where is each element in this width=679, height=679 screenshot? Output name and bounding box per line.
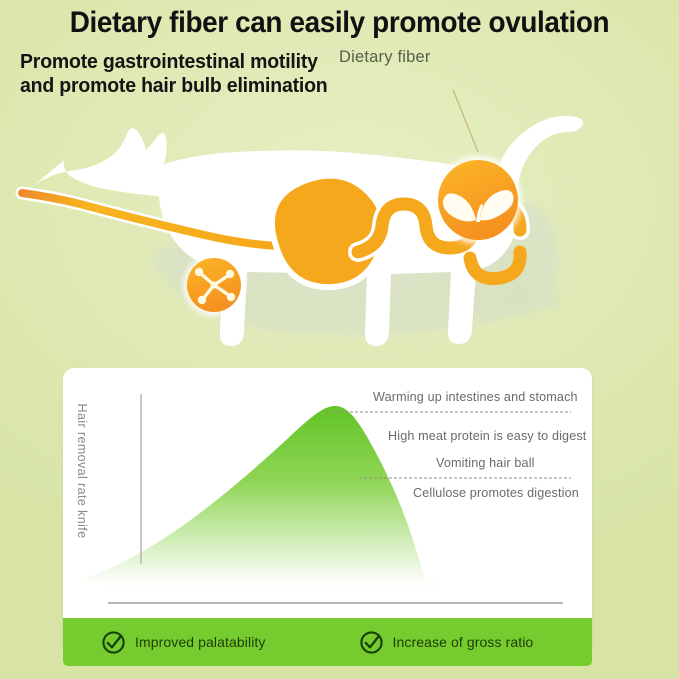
benefit-item-palatability: Improved palatability [101, 630, 266, 655]
leaf-sprout-badge [434, 156, 522, 244]
x-axis-line [63, 598, 592, 608]
annotation-vomiting-hair-ball: Vomiting hair ball [436, 456, 535, 470]
benefit-item-gross-ratio: Increase of gross ratio [359, 630, 534, 655]
benefits-footer: Improved palatability Increase of gross … [63, 618, 592, 666]
cat-illustration [0, 90, 679, 370]
check-circle-icon [359, 630, 384, 655]
y-axis-label: Hair removal rate knife [75, 396, 89, 546]
page-title: Dietary fiber can easily promote ovulati… [24, 6, 655, 40]
chart-card: Hair removal rate knife Warming up intes… [63, 368, 592, 654]
benefit-label-gross-ratio: Increase of gross ratio [393, 634, 534, 650]
infographic-page: Dietary fiber can easily promote ovulati… [0, 0, 679, 679]
benefit-label-palatability: Improved palatability [135, 634, 266, 650]
check-circle-icon [101, 630, 126, 655]
molecule-badge [183, 254, 245, 316]
chart-series-primary [81, 406, 429, 584]
subtitle-line-1: Promote gastrointestinal motility [20, 50, 328, 74]
annotation-cellulose-digestion: Cellulose promotes digestion [413, 486, 579, 500]
dietary-fiber-callout-label: Dietary fiber [339, 48, 431, 67]
annotation-warming-intestines: Warming up intestines and stomach [373, 390, 578, 404]
callout-leader-line [330, 90, 525, 152]
annotation-meat-protein: High meat protein is easy to digest [388, 429, 586, 443]
